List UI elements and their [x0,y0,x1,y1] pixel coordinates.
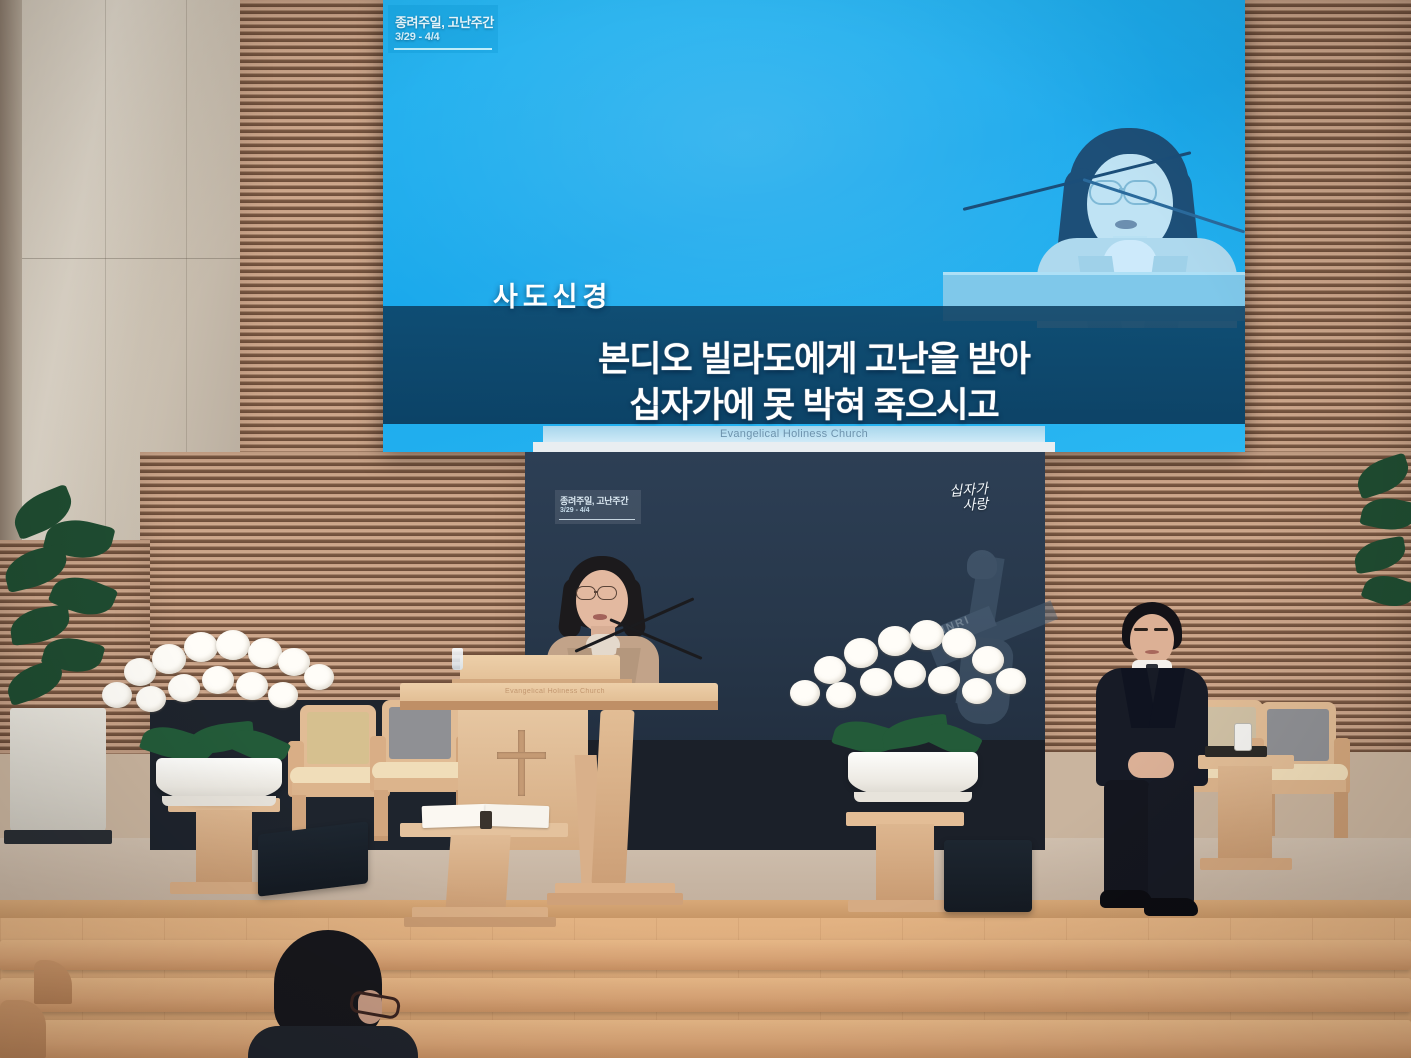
orchid-bloom [844,638,878,668]
white-orchid-left [96,624,346,804]
projected-speaker-mouth [1115,220,1137,229]
plant-leaf [1352,452,1411,499]
projection-header-title: 종려주일, 고난주간 [395,12,494,31]
bible-page-left [422,804,487,828]
plant-pot [10,708,106,834]
clergy-brow-left [1134,628,1148,631]
plant-pot-base [4,830,112,844]
orchid-bloom [860,668,892,696]
side-table-base-right [1200,858,1292,870]
floor-monitor-right [944,840,1032,912]
orchid-bloom [878,626,912,656]
pulpit-side-leg [591,710,634,885]
plant-leaf [1352,536,1408,575]
orchid-bloom [996,668,1026,694]
creed-section-label: 사도신경 [493,275,612,314]
clergy-clasped-hands [1128,752,1174,778]
orchid-bloom [248,638,282,668]
wooden-pulpit: Evangelical Holiness Church [400,655,730,925]
white-orchid-center-right [782,616,1032,796]
orchid-bloom [168,674,200,702]
orchid-bloom [894,660,926,688]
speaker-glasses-bridge [594,591,598,593]
orchid-bloom [304,664,334,690]
flower-stand-stem-right [876,824,934,906]
orchid-bloom [102,682,132,708]
wall-slat-panel-left [238,0,388,470]
pulpit-base-lower [547,893,683,905]
lyric-line-1: 본디오 빌라도에게 고난을 받아 [383,331,1245,382]
church-sanctuary-photo: 종려주일, 고난주간 3/29 - 4/4 INRI [0,0,1411,1058]
orchid-bloom [124,658,156,686]
pew-middle-row [0,978,1411,1012]
handwritten-script-logo: 십자가 사랑 [949,479,1036,519]
pew-end-cap-left-2 [0,1000,46,1058]
flower-stand-stem-left [196,810,252,888]
pulpit-cross-vertical [518,730,525,796]
speaker-mouth [593,614,607,620]
orchid-bloom [928,666,960,694]
backwall-header-dates: 3/29 - 4/4 [560,507,590,514]
orchid-bloom [942,628,976,658]
congregant-shoulders [248,1026,418,1058]
congregation-member [258,930,398,1058]
clergy-shoe-right [1144,898,1198,916]
plant-leaf [2,658,67,706]
orchid-bloom [136,686,166,712]
projection-header-rule [394,48,492,50]
open-bible [422,803,550,829]
orchid-bloom [236,672,268,700]
church-name-strip: Evangelical Holiness Church [543,426,1045,442]
potted-plant-far-right [1352,450,1411,670]
clergy-mouth [1145,650,1159,654]
projection-header: 종려주일, 고난주간 3/29 - 4/4 [388,5,498,53]
orchid-saucer [162,796,276,806]
orchid-bloom [268,682,298,708]
clergy-brow-right [1154,628,1168,631]
communion-table-stem [445,835,510,913]
side-table-stem-right [1218,766,1272,862]
chair-leg-right [1334,792,1348,838]
device-on-side-table [1234,723,1252,751]
orchid-bloom [184,632,218,662]
orchid-bloom [962,678,992,704]
pulpit-top-edge [400,701,718,710]
backwall-header: 종려주일, 고난주간 3/29 - 4/4 [555,490,641,524]
communion-table-base-lower [404,917,556,927]
bible-spine [480,811,492,829]
pew-front-row [0,1020,1411,1058]
chair-back-cushion [1267,709,1329,761]
plant-leaf [1359,493,1411,536]
pew-back-row [0,940,1411,970]
orchid-bloom [972,646,1004,674]
screen-bottom-edge [533,442,1055,452]
orchid-bloom [152,644,186,674]
clergy-leg-left [1104,780,1150,898]
clergy-leg-right [1148,780,1194,904]
orchid-bloom [814,656,846,684]
orchid-saucer [854,792,972,802]
pulpit-engraved-text: Evangelical Holiness Church [440,688,670,695]
speaker-glasses-right [597,586,617,600]
water-glass [452,648,463,670]
orchid-bloom [826,682,856,708]
seated-clergy [1092,602,1212,912]
bible-page-right [485,804,550,828]
plant-leaf [1360,568,1411,613]
orchid-bloom [202,666,234,694]
lyric-line-2: 십자가에 못 박혀 죽으시고 [383,377,1245,428]
church-name-text: Evangelical Holiness Church [543,426,1045,442]
projection-screen: 종려주일, 고난주간 3/29 - 4/4 INRI [383,0,1245,452]
clergy-face [1130,614,1174,666]
pulpit-cross-horizontal [497,752,546,759]
projection-header-dates: 3/29 - 4/4 [395,31,439,43]
orchid-bloom [790,680,820,706]
backwall-crucifix-head [967,550,997,579]
backwall-header-title: 종려주일, 고난주간 [560,494,628,507]
chair-leg-left [374,790,388,836]
script-logo-line-2: 사랑 [962,494,1036,514]
backwall-header-rule [559,519,635,520]
wall-slat-panel-upper-right [1243,0,1411,470]
speaker-glasses-left [576,586,596,600]
orchid-bloom [216,630,250,660]
orchid-bloom [910,620,944,650]
